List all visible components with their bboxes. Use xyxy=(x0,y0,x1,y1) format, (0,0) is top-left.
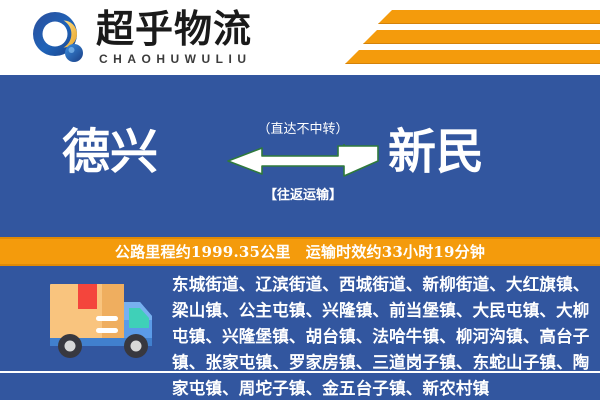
brand-name-en: CHAOHUWULIU xyxy=(99,52,252,66)
delivery-truck-icon xyxy=(28,276,156,368)
route-info-bar: 公路里程约1999.35公里 运输时效约33小时19分钟 xyxy=(0,237,600,266)
origin-city: 德兴 xyxy=(62,124,158,180)
route-note-roundtrip: 【往返运输】 xyxy=(228,184,378,203)
decorative-stripes xyxy=(300,8,600,68)
brand-header: 超乎物流 CHAOHUWULIU xyxy=(0,0,600,75)
route-note-direct: （直达不中转） xyxy=(228,118,378,137)
route-arrow-group: （直达不中转） 【往返运输】 xyxy=(228,118,378,210)
brand-name-cn: 超乎物流 xyxy=(96,8,252,50)
stripe-3 xyxy=(345,50,600,64)
route-info-text: 公路里程约1999.35公里 运输时效约33小时19分钟 xyxy=(115,241,485,262)
bidirectional-arrow-icon xyxy=(226,144,380,183)
chaohu-circle-logo-icon xyxy=(30,10,88,68)
stripe-1 xyxy=(378,10,600,24)
destination-city: 新民 xyxy=(388,124,484,180)
coverage-area-text: 东城街道、辽滨街道、西城街道、新柳街道、大红旗镇、梁山镇、公主屯镇、兴隆镇、前当… xyxy=(172,272,592,400)
stripe-2 xyxy=(363,30,600,44)
logistics-route-banner: 超乎物流 CHAOHUWULIU 德兴 新民 （直达不中转） 【往返运输】 公路… xyxy=(0,0,600,400)
